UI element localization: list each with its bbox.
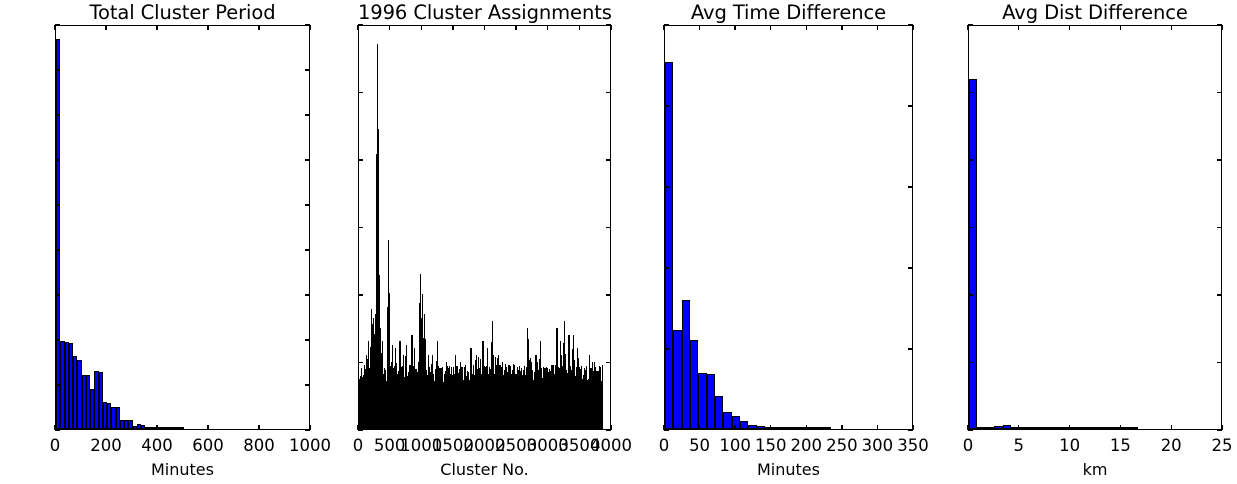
x-tick-mark-top [877, 25, 878, 30]
y-tick-mark [358, 227, 363, 228]
y-tick-mark-right [908, 429, 913, 430]
x-tick-mark-top [452, 25, 453, 30]
y-tick-mark [358, 92, 363, 93]
x-tick-mark [421, 425, 422, 430]
x-tick-label: 250 [826, 436, 858, 455]
plot-area [56, 26, 309, 429]
y-tick-mark [968, 227, 973, 228]
x-tick-mark-top [207, 25, 208, 30]
figure-canvas: Total Cluster Period Minutes 02004006008… [0, 0, 1237, 484]
histogram-bar [1045, 427, 1053, 429]
y-tick-mark [664, 348, 669, 349]
histogram-bar [1087, 427, 1095, 429]
plot-axes [664, 25, 913, 430]
plot-area [969, 26, 1221, 429]
x-tick-label: 600 [192, 436, 224, 455]
x-tick-mark [1120, 425, 1121, 430]
histogram-bar [773, 427, 781, 429]
x-tick-mark-top [1018, 25, 1019, 30]
histogram-bar [1070, 427, 1078, 429]
histogram-bar [969, 79, 977, 429]
histogram-bar [823, 427, 831, 429]
histogram-bar [698, 373, 706, 429]
y-tick-mark-right [606, 92, 611, 93]
y-tick-mark [55, 339, 60, 340]
x-tick-mark-top [421, 25, 422, 30]
y-tick-mark-right [305, 114, 310, 115]
x-tick-mark-top [515, 25, 516, 30]
panel-title: Avg Dist Difference [968, 1, 1222, 24]
histogram-bar [782, 427, 790, 429]
y-tick-mark [968, 429, 973, 430]
y-tick-mark [664, 186, 669, 187]
x-tick-label: 200 [90, 436, 122, 455]
x-tick-mark-top [1221, 25, 1222, 30]
x-tick-mark-top [547, 25, 548, 30]
y-tick-mark-right [1217, 92, 1222, 93]
y-tick-mark [55, 384, 60, 385]
x-tick-mark-top [734, 25, 735, 30]
histogram-bar [723, 412, 731, 429]
x-tick-mark [515, 425, 516, 430]
x-tick-mark [207, 425, 208, 430]
x-tick-mark-top [105, 25, 106, 30]
x-tick-mark [1069, 425, 1070, 430]
histogram-bar [740, 421, 748, 430]
plot-area [665, 26, 912, 429]
x-tick-label: 150 [755, 436, 787, 455]
x-tick-mark [699, 425, 700, 430]
x-tick-label: 0 [963, 436, 974, 455]
y-tick-mark [664, 429, 669, 430]
y-tick-mark-right [606, 362, 611, 363]
y-tick-mark [55, 24, 60, 25]
x-axis-label: Cluster No. [358, 460, 611, 479]
histogram-bar [1129, 427, 1137, 429]
y-tick-mark-right [908, 348, 913, 349]
x-tick-mark-top [258, 25, 259, 30]
histogram-bar [790, 427, 798, 429]
histogram-bar [665, 62, 673, 429]
y-tick-mark-right [1217, 294, 1222, 295]
y-tick-mark [55, 204, 60, 205]
y-tick-mark-right [606, 429, 611, 430]
y-tick-mark-right [1217, 429, 1222, 430]
x-tick-mark [156, 425, 157, 430]
y-tick-mark-right [305, 339, 310, 340]
histogram-bar [757, 426, 765, 429]
x-tick-mark-top [806, 25, 807, 30]
x-tick-label: 200 [791, 436, 823, 455]
y-tick-mark [968, 362, 973, 363]
histogram-bar [673, 330, 681, 429]
x-tick-mark-top [156, 25, 157, 30]
y-tick-mark-right [305, 429, 310, 430]
x-tick-label: 20 [1161, 436, 1182, 455]
histogram-bar [1053, 427, 1061, 429]
y-tick-mark [55, 114, 60, 115]
y-tick-mark-right [606, 227, 611, 228]
plot-axes [358, 25, 611, 430]
x-tick-label: 5 [1014, 436, 1025, 455]
x-tick-mark-top [1171, 25, 1172, 30]
x-tick-label: 1000 [289, 436, 331, 455]
y-tick-mark-right [606, 294, 611, 295]
plot-axes [968, 25, 1222, 430]
x-tick-label: 800 [243, 436, 275, 455]
y-tick-mark [968, 24, 973, 25]
x-tick-mark [770, 425, 771, 430]
x-tick-mark [877, 425, 878, 430]
panel-title: Total Cluster Period [55, 1, 310, 24]
x-tick-label: 0 [659, 436, 670, 455]
x-tick-mark-top [579, 25, 580, 30]
y-tick-mark-right [305, 69, 310, 70]
x-tick-mark [841, 425, 842, 430]
x-tick-mark [105, 425, 106, 430]
panel-title: 1996 Cluster Assignments [358, 1, 611, 24]
y-tick-mark [358, 429, 363, 430]
x-tick-mark-top [699, 25, 700, 30]
histogram-bar [1028, 427, 1036, 429]
y-tick-mark-right [305, 294, 310, 295]
y-tick-mark-right [606, 159, 611, 160]
y-tick-mark [358, 24, 363, 25]
x-tick-label: 15 [1110, 436, 1131, 455]
histogram-bar [1003, 425, 1011, 429]
y-tick-mark-right [606, 24, 611, 25]
histogram-bar [977, 427, 985, 429]
x-tick-label: 25 [1212, 436, 1233, 455]
x-axis-label: Minutes [55, 460, 310, 479]
x-tick-mark-top [967, 25, 968, 30]
histogram-bar [179, 427, 183, 429]
y-tick-mark [358, 159, 363, 160]
x-tick-mark-top [841, 25, 842, 30]
cluster-base-band [359, 401, 603, 429]
x-tick-label: 100 [719, 436, 751, 455]
x-tick-mark-top [54, 25, 55, 30]
x-tick-label: 0 [50, 436, 61, 455]
x-tick-label: 300 [862, 436, 894, 455]
histogram-bar [815, 427, 823, 429]
histogram-bar [986, 427, 994, 429]
x-tick-label: 400 [141, 436, 173, 455]
x-tick-mark-top [610, 25, 611, 30]
histogram-bar [682, 300, 690, 429]
plot-area [359, 26, 610, 429]
y-tick-mark [664, 267, 669, 268]
x-tick-label: 50 [689, 436, 710, 455]
x-axis-label: Minutes [664, 460, 913, 479]
y-tick-mark-right [908, 267, 913, 268]
y-tick-mark [664, 105, 669, 106]
y-tick-mark-right [305, 24, 310, 25]
x-tick-mark-top [309, 25, 310, 30]
x-tick-label: 0 [353, 436, 364, 455]
x-axis-label: km [968, 460, 1222, 479]
y-tick-mark [358, 294, 363, 295]
cluster-spike-peak [377, 44, 378, 429]
x-tick-label: 350 [897, 436, 929, 455]
x-tick-mark [452, 425, 453, 430]
x-tick-mark-top [389, 25, 390, 30]
y-tick-mark-right [1217, 227, 1222, 228]
histogram-bar [1095, 427, 1103, 429]
y-tick-mark-right [908, 105, 913, 106]
x-tick-mark-top [357, 25, 358, 30]
x-tick-mark [484, 425, 485, 430]
y-tick-mark-right [305, 159, 310, 160]
x-tick-mark [1171, 425, 1172, 430]
plot-axes [55, 25, 310, 430]
histogram-bar [1079, 427, 1087, 429]
y-tick-mark-right [305, 204, 310, 205]
histogram-bar [715, 396, 723, 429]
y-tick-mark-right [1217, 159, 1222, 160]
histogram-bar [690, 340, 698, 429]
histogram-bar [1104, 427, 1112, 429]
panel-title: Avg Time Difference [664, 1, 913, 24]
y-tick-mark [664, 24, 669, 25]
y-tick-mark [55, 69, 60, 70]
x-tick-mark [258, 425, 259, 430]
y-tick-mark [55, 249, 60, 250]
y-tick-mark [55, 159, 60, 160]
y-tick-mark-right [305, 249, 310, 250]
histogram-bar [1020, 427, 1028, 429]
x-tick-mark [579, 425, 580, 430]
x-tick-mark-top [484, 25, 485, 30]
x-tick-mark-top [663, 25, 664, 30]
histogram-bar [1121, 427, 1129, 429]
x-tick-mark-top [912, 25, 913, 30]
y-tick-mark [358, 362, 363, 363]
y-tick-mark [55, 429, 60, 430]
x-tick-mark-top [770, 25, 771, 30]
x-tick-mark [734, 425, 735, 430]
y-tick-mark [968, 92, 973, 93]
y-tick-mark-right [1217, 24, 1222, 25]
y-tick-mark-right [1217, 362, 1222, 363]
x-tick-mark [806, 425, 807, 430]
x-tick-mark-top [1069, 25, 1070, 30]
x-tick-label: 4000 [590, 436, 632, 455]
histogram-bar [707, 374, 715, 429]
histogram-bar [1036, 427, 1044, 429]
y-tick-mark [968, 294, 973, 295]
x-tick-label: 10 [1059, 436, 1080, 455]
y-tick-mark [55, 294, 60, 295]
x-tick-mark [547, 425, 548, 430]
y-tick-mark [968, 159, 973, 160]
y-tick-mark-right [908, 186, 913, 187]
histogram-bar [748, 425, 756, 429]
histogram-bar [994, 426, 1002, 429]
x-tick-mark [389, 425, 390, 430]
x-tick-mark-top [1120, 25, 1121, 30]
histogram-bar [807, 427, 815, 429]
y-tick-mark-right [305, 384, 310, 385]
x-tick-mark [1018, 425, 1019, 430]
y-tick-mark-right [908, 24, 913, 25]
